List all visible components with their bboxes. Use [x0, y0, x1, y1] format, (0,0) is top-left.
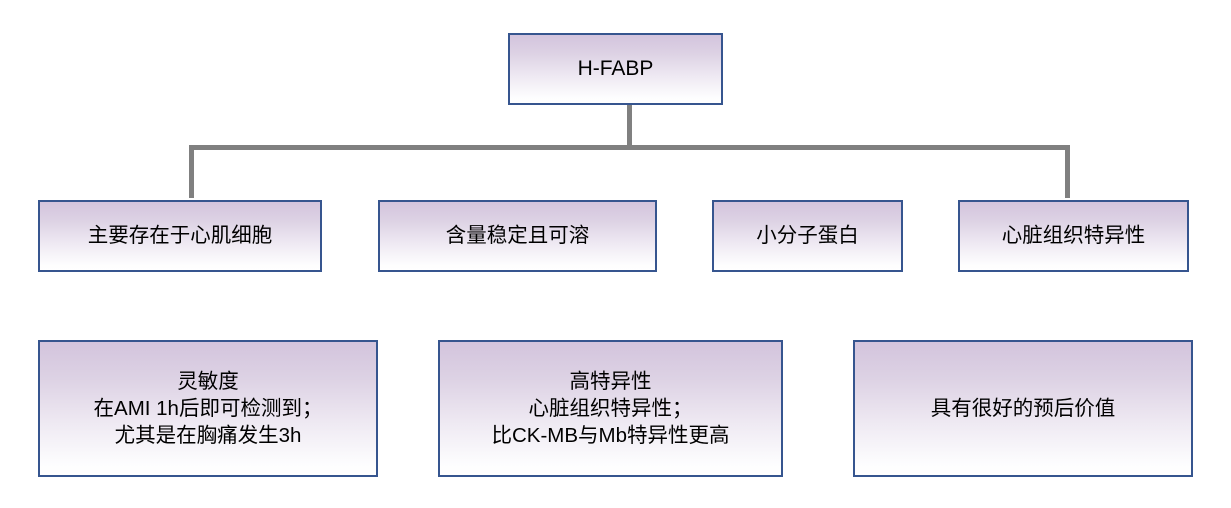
node-high-specificity[interactable]: 高特异性 心脏组织特异性； 比CK-MB与Mb特异性更高 — [438, 340, 783, 477]
node-sensitivity-line-1: 灵敏度 — [46, 368, 370, 395]
node-small-protein[interactable]: 小分子蛋白 — [712, 200, 903, 272]
node-sensitivity[interactable]: 灵敏度 在AMI 1h后即可检测到； 尤其是在胸痛发生3h — [38, 340, 378, 477]
connector-horizontal-bus — [189, 145, 1070, 150]
connector-drop-right — [1065, 145, 1070, 198]
node-h-fabp[interactable]: H-FABP — [508, 33, 723, 105]
node-sensitivity-line-3: 尤其是在胸痛发生3h — [46, 422, 370, 449]
node-small-protein-label: 小分子蛋白 — [714, 222, 901, 249]
node-sensitivity-label: 灵敏度 在AMI 1h后即可检测到； 尤其是在胸痛发生3h — [40, 368, 376, 449]
node-prognostic-value-line-1: 具有很好的预后价值 — [861, 395, 1185, 422]
node-high-specificity-label: 高特异性 心脏组织特异性； 比CK-MB与Mb特异性更高 — [440, 368, 781, 449]
node-prognostic-value[interactable]: 具有很好的预后价值 — [853, 340, 1193, 477]
connector-root-stem — [627, 105, 632, 149]
node-high-specificity-line-2: 心脏组织特异性； — [446, 395, 775, 422]
node-cardiomyocyte-label: 主要存在于心肌细胞 — [40, 222, 320, 249]
node-cardiac-specific-label: 心脏组织特异性 — [960, 222, 1187, 249]
node-cardiomyocyte[interactable]: 主要存在于心肌细胞 — [38, 200, 322, 272]
node-prognostic-value-label: 具有很好的预后价值 — [855, 395, 1191, 422]
diagram-canvas: H-FABP 主要存在于心肌细胞 含量稳定且可溶 小分子蛋白 心脏组织特异性 灵… — [0, 0, 1231, 508]
node-high-specificity-line-3: 比CK-MB与Mb特异性更高 — [446, 422, 775, 449]
node-h-fabp-label: H-FABP — [510, 55, 721, 83]
node-cardiac-specific[interactable]: 心脏组织特异性 — [958, 200, 1189, 272]
node-sensitivity-line-2: 在AMI 1h后即可检测到； — [46, 395, 370, 422]
node-stable-soluble[interactable]: 含量稳定且可溶 — [378, 200, 657, 272]
connector-drop-left — [189, 145, 194, 198]
node-stable-soluble-label: 含量稳定且可溶 — [380, 222, 655, 249]
node-high-specificity-line-1: 高特异性 — [446, 368, 775, 395]
